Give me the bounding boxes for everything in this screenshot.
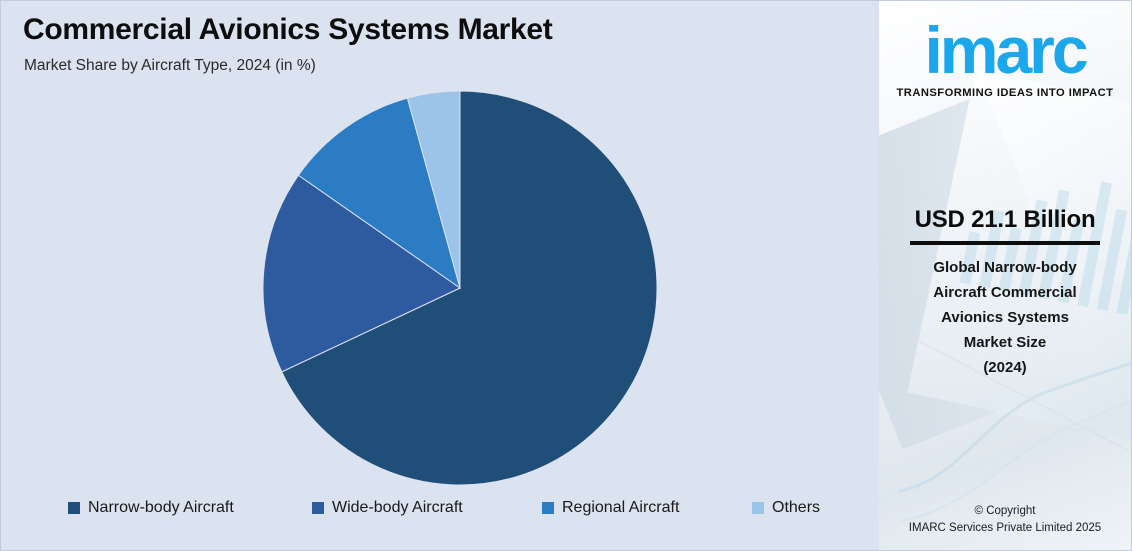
legend-label: Regional Aircraft	[562, 499, 679, 517]
infographic-card: Commercial Avionics Systems Market Marke…	[0, 0, 1132, 551]
brand-panel: imarc TRANSFORMING IDEAS INTO IMPACT USD…	[879, 1, 1131, 550]
stat-description-line: (2024)	[893, 355, 1117, 380]
legend-item-narrow-body-aircraft[interactable]: Narrow-body Aircraft	[68, 499, 234, 517]
legend-item-regional-aircraft[interactable]: Regional Aircraft	[542, 499, 679, 517]
copyright-company-line: IMARC Services Private Limited 2025	[879, 520, 1131, 537]
brand-tagline: TRANSFORMING IDEAS INTO IMPACT	[879, 87, 1131, 99]
pie-slice-group	[263, 91, 657, 485]
copyright-block: © Copyright IMARC Services Private Limit…	[879, 503, 1131, 537]
brand-logo: imarc TRANSFORMING IDEAS INTO IMPACT	[879, 17, 1131, 99]
pie-chart-svg	[262, 90, 658, 486]
legend-swatch-icon	[312, 502, 324, 514]
legend-label: Others	[772, 499, 820, 517]
stat-description-line: Market Size	[893, 330, 1117, 355]
stat-description-line: Global Narrow-body	[893, 255, 1117, 280]
chart-subtitle: Market Share by Aircraft Type, 2024 (in …	[24, 57, 316, 75]
imarc-logo-text: imarc	[924, 17, 1085, 83]
legend-label: Narrow-body Aircraft	[88, 499, 234, 517]
legend-swatch-icon	[68, 502, 80, 514]
chart-legend: Narrow-body Aircraft Wide-body Aircraft …	[1, 499, 880, 529]
stat-description-line: Avionics Systems	[893, 305, 1117, 330]
stat-value: USD 21.1 Billion	[893, 206, 1117, 234]
stat-description-line: Aircraft Commercial	[893, 280, 1117, 305]
stat-block: USD 21.1 Billion Global Narrow-bodyAircr…	[893, 206, 1117, 380]
legend-swatch-icon	[752, 502, 764, 514]
stat-description: Global Narrow-bodyAircraft CommercialAvi…	[893, 255, 1117, 380]
pie-chart	[262, 90, 658, 486]
background-artwork-bar	[1116, 175, 1131, 315]
legend-label: Wide-body Aircraft	[332, 499, 463, 517]
copyright-symbol-line: © Copyright	[879, 503, 1131, 520]
chart-panel: Commercial Avionics Systems Market Marke…	[1, 1, 880, 550]
stat-divider	[910, 241, 1100, 245]
legend-item-wide-body-aircraft[interactable]: Wide-body Aircraft	[312, 499, 463, 517]
legend-swatch-icon	[542, 502, 554, 514]
legend-item-others[interactable]: Others	[752, 499, 820, 517]
page-title: Commercial Avionics Systems Market	[23, 13, 552, 47]
